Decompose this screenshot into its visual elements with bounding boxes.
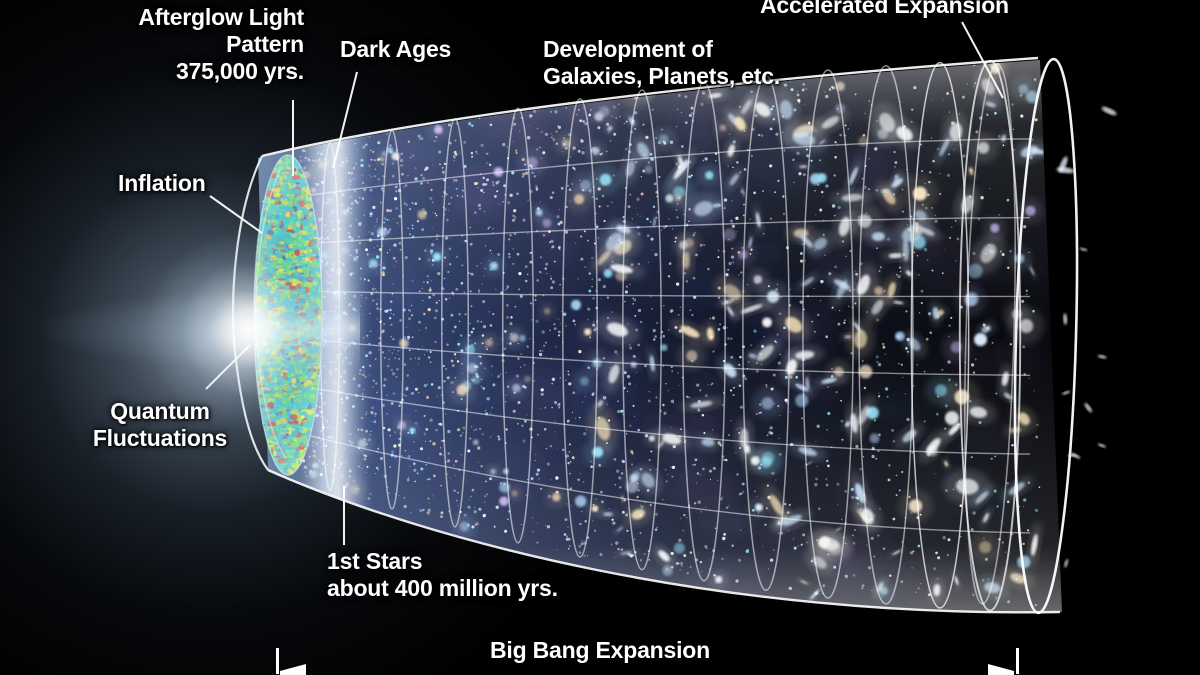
label-development-of-galaxies: Development of Galaxies, Planets, etc.: [543, 36, 780, 90]
right-bracket-arrow-head: [988, 664, 1014, 675]
label-accelerated-expansion: Accelerated Expansion: [760, 0, 1009, 19]
universe-expansion-illustration: [0, 0, 1200, 675]
leader-inflation: [210, 196, 262, 233]
left-bracket-arrow-head: [280, 664, 306, 675]
label-first-stars: 1st Stars about 400 million yrs.: [327, 548, 558, 602]
diagram-canvas: Afterglow Light Pattern 375,000 yrs. Dar…: [0, 0, 1200, 675]
label-quantum-fluctuations: Quantum Fluctuations: [74, 398, 246, 452]
label-big-bang-expansion: Big Bang Expansion: [0, 637, 1200, 664]
label-inflation: Inflation: [118, 170, 206, 197]
label-afterglow-light-pattern: Afterglow Light Pattern 375,000 yrs.: [106, 4, 304, 85]
leader-quantum: [206, 345, 250, 389]
expansion-cone: [258, 52, 1084, 618]
label-dark-ages: Dark Ages: [340, 36, 451, 63]
